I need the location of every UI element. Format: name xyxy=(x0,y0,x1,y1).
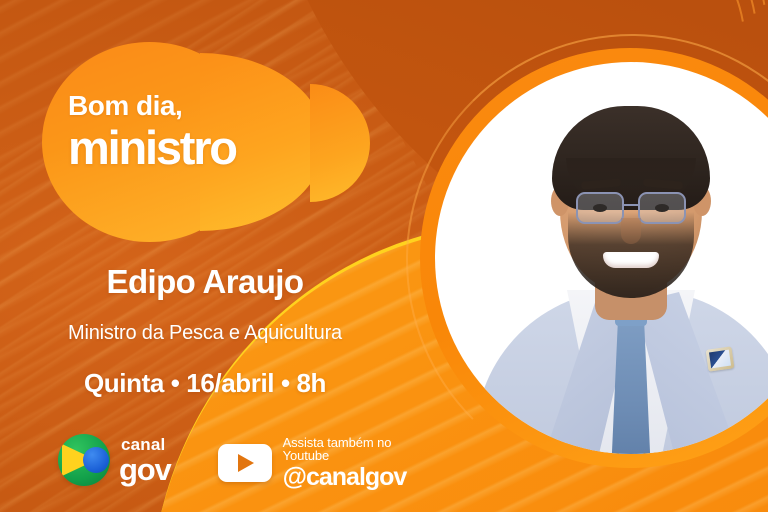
play-triangle-shape xyxy=(238,454,254,472)
portrait-eye-right xyxy=(655,204,669,212)
flag-globe-shape xyxy=(83,447,109,473)
logo-text-line2: ministro xyxy=(68,124,236,171)
portrait-glasses-bridge xyxy=(624,204,638,206)
logo-text: Bom dia, ministro xyxy=(68,92,236,171)
portrait-mouth xyxy=(603,252,659,268)
youtube-callout[interactable]: Assista também no Youtube @canalgov xyxy=(218,436,440,490)
youtube-caption: Assista também no Youtube xyxy=(283,436,440,462)
portrait-hair xyxy=(552,106,710,210)
logo-text-line1: Bom dia, xyxy=(68,92,236,120)
youtube-play-icon[interactable] xyxy=(218,444,272,482)
youtube-handle: @canalgov xyxy=(283,465,440,490)
youtube-text-block: Assista também no Youtube @canalgov xyxy=(283,436,440,490)
canalgov-wordmark: canal gov xyxy=(119,436,171,485)
canalgov-word-gov: gov xyxy=(119,454,171,485)
logo-half-circle-small xyxy=(310,84,370,202)
canalgov-logo[interactable]: canal gov xyxy=(58,434,171,486)
brazil-flag-circle-icon xyxy=(58,434,110,486)
program-logo: Bom dia, ministro xyxy=(42,42,372,242)
portrait-eye-left xyxy=(593,204,607,212)
guest-role: Ministro da Pesca e Aquicultura xyxy=(0,322,410,345)
broadcast-announcement-card: Bom dia, ministro Edipo Araujo Ministro … xyxy=(0,0,768,512)
canalgov-word-canal: canal xyxy=(121,436,171,453)
portrait-nose xyxy=(621,218,641,244)
schedule-text: Quinta • 16/abril • 8h xyxy=(0,368,410,399)
footer-bar: canal gov Assista também no Youtube @can… xyxy=(0,430,440,494)
portrait-lapel-pin xyxy=(706,346,735,371)
guest-name: Edipo Araujo xyxy=(0,263,410,301)
